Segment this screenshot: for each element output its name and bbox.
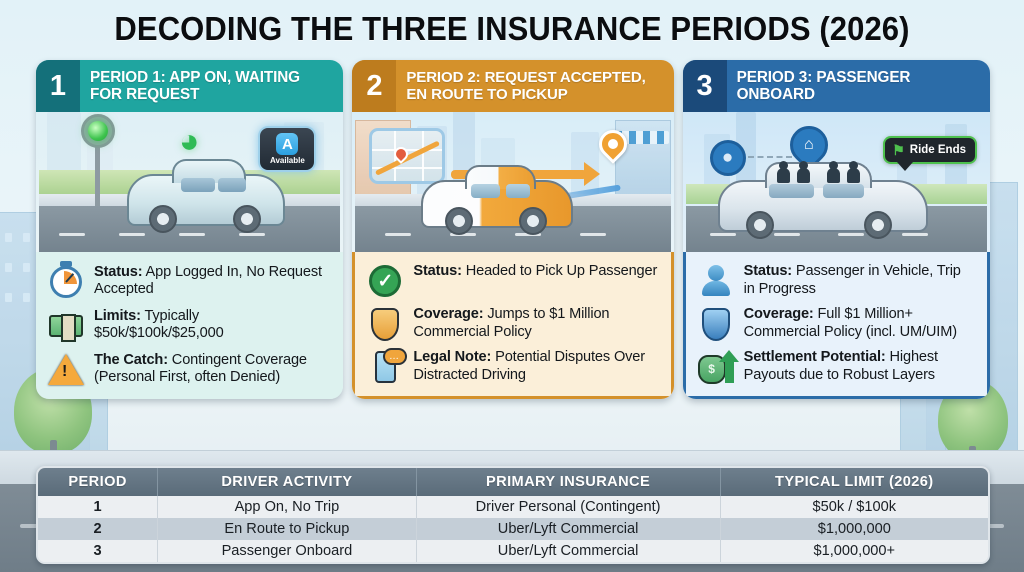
wifi-signal-icon: ◕	[179, 124, 221, 158]
bullet-text: Settlement Potential: Highest Payouts du…	[744, 348, 975, 384]
bullet-label: Status:	[413, 263, 461, 279]
card-2-bullet-status: ✓ Status: Headed to Pick Up Passenger	[366, 262, 658, 300]
flag-icon: ⚑	[892, 143, 905, 157]
cell-driver-activity: App On, No Trip	[158, 496, 416, 518]
traffic-signal-pole	[95, 140, 100, 206]
phone-chat-icon: …	[366, 348, 404, 386]
column-header-primary-insurance: PRIMARY INSURANCE	[416, 468, 720, 496]
passenger-avatar-icon: ●	[710, 140, 746, 176]
bullet-value: Headed to Pick Up Passenger	[462, 263, 657, 279]
cash-stack-icon	[47, 307, 85, 345]
map-route-widget	[369, 128, 445, 184]
widget-status-label: Available	[270, 156, 305, 165]
card-3-bullet-status: Status: Passenger in Vehicle, Trip in Pr…	[697, 262, 975, 300]
summary-table: PERIOD DRIVER ACTIVITY PRIMARY INSURANCE…	[36, 466, 990, 564]
person-icon	[697, 262, 735, 300]
card-3-illustration: ● ⌂ ⚑ Ride Ends	[683, 112, 990, 252]
car-illustration	[718, 180, 928, 232]
cell-typical-limit: $1,000,000+	[720, 540, 988, 562]
bullet-label: Coverage:	[744, 306, 814, 322]
cell-primary-insurance: Uber/Lyft Commercial	[416, 540, 720, 562]
cell-typical-limit: $50k / $100k	[720, 496, 988, 518]
bullet-text: Legal Note: Potential Disputes Over Dist…	[413, 348, 658, 384]
bullet-label: Status:	[744, 263, 792, 279]
card-1-bullet-limits: Limits: Typically $50k/$100k/$25,000	[47, 307, 331, 345]
table-header-row: PERIOD DRIVER ACTIVITY PRIMARY INSURANCE…	[38, 468, 988, 496]
card-1-title: PERIOD 1: APP ON, WAITING FOR REQUEST	[80, 60, 343, 112]
ride-ends-label: Ride Ends	[910, 144, 966, 156]
card-1-body: Status: App Logged In, No Request Accept…	[36, 252, 343, 399]
shield-icon	[366, 305, 404, 343]
period-card-3[interactable]: 3 PERIOD 3: PASSENGER ONBOARD ● ⌂ ⚑ Ride…	[683, 60, 990, 399]
column-header-typical-limit: TYPICAL LIMIT (2026)	[720, 468, 988, 496]
card-3-body: Status: Passenger in Vehicle, Trip in Pr…	[683, 252, 990, 399]
card-3-bullet-coverage: Coverage: Full $1 Million+ Commercial Po…	[697, 305, 975, 343]
bullet-label: Settlement Potential:	[744, 349, 886, 365]
cell-period: 2	[38, 518, 158, 540]
period-cards-row: 1 PERIOD 1: APP ON, WAITING FOR REQUEST …	[36, 60, 990, 399]
stopwatch-icon	[47, 263, 85, 301]
car-illustration	[127, 174, 285, 226]
card-2-body: ✓ Status: Headed to Pick Up Passenger Co…	[352, 252, 673, 399]
warning-triangle-icon	[47, 351, 85, 389]
car-illustration	[421, 180, 573, 228]
period-card-2[interactable]: 2 PERIOD 2: REQUEST ACCEPTED, EN ROUTE T…	[352, 60, 673, 399]
card-2-title: PERIOD 2: REQUEST ACCEPTED, EN ROUTE TO …	[396, 60, 673, 112]
table-row: 1 App On, No Trip Driver Personal (Conti…	[38, 496, 988, 518]
cell-driver-activity: Passenger Onboard	[158, 540, 416, 562]
check-circle-icon: ✓	[366, 262, 404, 300]
bullet-text: Status: App Logged In, No Request Accept…	[94, 263, 331, 299]
card-2-bullet-coverage: Coverage: Jumps to $1 Million Commercial…	[366, 305, 658, 343]
traffic-signal-green-icon	[81, 114, 115, 148]
card-3-bullet-settlement: Settlement Potential: Highest Payouts du…	[697, 348, 975, 386]
bullet-label: Status:	[94, 264, 142, 280]
cell-period: 3	[38, 540, 158, 562]
bullet-label: The Catch:	[94, 352, 168, 368]
driver-app-available-widget: A Available	[258, 126, 316, 172]
cell-primary-insurance: Uber/Lyft Commercial	[416, 518, 720, 540]
column-header-period: PERIOD	[38, 468, 158, 496]
card-2-header: 2 PERIOD 2: REQUEST ACCEPTED, EN ROUTE T…	[352, 60, 673, 112]
card-3-title: PERIOD 3: PASSENGER ONBOARD	[727, 60, 990, 112]
cell-driver-activity: En Route to Pickup	[158, 518, 416, 540]
card-2-bullet-legal: … Legal Note: Potential Disputes Over Di…	[366, 348, 658, 386]
connection-line	[748, 156, 792, 158]
bullet-text: Status: Passenger in Vehicle, Trip in Pr…	[744, 262, 975, 298]
card-1-header: 1 PERIOD 1: APP ON, WAITING FOR REQUEST	[36, 60, 343, 112]
card-1-bullet-status: Status: App Logged In, No Request Accept…	[47, 263, 331, 301]
card-1-bullet-catch: The Catch: Contingent Coverage (Personal…	[47, 351, 331, 389]
column-header-driver-activity: DRIVER ACTIVITY	[158, 468, 416, 496]
cell-period: 1	[38, 496, 158, 518]
bullet-text: Status: Headed to Pick Up Passenger	[413, 262, 657, 281]
card-2-illustration	[352, 112, 673, 252]
bullet-label: Coverage:	[413, 306, 483, 322]
table-row: 2 En Route to Pickup Uber/Lyft Commercia…	[38, 518, 988, 540]
bullet-label: Legal Note:	[413, 349, 491, 365]
bullet-label: Limits:	[94, 308, 141, 324]
bullet-text: Coverage: Jumps to $1 Million Commercial…	[413, 305, 658, 341]
ride-ends-badge: ⚑ Ride Ends	[883, 136, 977, 164]
card-1-number: 1	[36, 60, 80, 112]
bullet-text: Coverage: Full $1 Million+ Commercial Po…	[744, 305, 975, 341]
period-card-1[interactable]: 1 PERIOD 1: APP ON, WAITING FOR REQUEST …	[36, 60, 343, 399]
shield-icon	[697, 305, 735, 343]
app-glyph-icon: A	[276, 133, 298, 155]
cell-typical-limit: $1,000,000	[720, 518, 988, 540]
bullet-text: The Catch: Contingent Coverage (Personal…	[94, 351, 331, 387]
map-route-line	[375, 141, 440, 176]
table-row: 3 Passenger Onboard Uber/Lyft Commercial…	[38, 540, 988, 562]
card-2-number: 2	[352, 60, 396, 112]
money-bag-growth-icon	[697, 348, 735, 386]
cell-primary-insurance: Driver Personal (Contingent)	[416, 496, 720, 518]
bullet-text: Limits: Typically $50k/$100k/$25,000	[94, 307, 331, 343]
card-3-header: 3 PERIOD 3: PASSENGER ONBOARD	[683, 60, 990, 112]
card-3-number: 3	[683, 60, 727, 112]
page-title: DECODING THE THREE INSURANCE PERIODS (20…	[31, 10, 994, 48]
card-1-illustration: ◕ A Available	[36, 112, 343, 252]
